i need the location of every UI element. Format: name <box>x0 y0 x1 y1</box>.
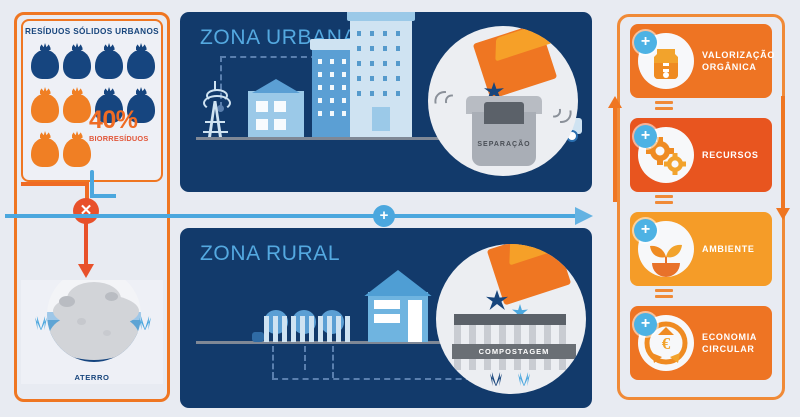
equals-icon <box>655 289 673 299</box>
arrow-shaft <box>781 96 785 212</box>
waste-bag-navy <box>63 43 93 83</box>
grass-icon <box>35 316 47 330</box>
bag-body <box>95 50 123 79</box>
bag-body <box>63 94 91 123</box>
zone-urbana-panel: ZONA URBANA <box>180 12 592 192</box>
gears-icon: + <box>638 127 694 183</box>
arrow-line <box>5 214 580 218</box>
bag-body <box>31 94 59 123</box>
dashed-link-vertical <box>304 346 306 370</box>
rubble-speck <box>103 330 111 336</box>
flow-branch-blue <box>90 170 180 210</box>
waste-bag-icon <box>31 131 59 167</box>
waste-bag-icon <box>31 87 59 123</box>
waste-bag-icon <box>63 43 91 79</box>
outcome-label: VALORIZAÇÃOORGÂNICA <box>694 49 781 73</box>
composting-process-circle: COMPOSTAGEM <box>436 244 586 394</box>
waste-bag-orange <box>31 87 61 127</box>
waste-bag-icon <box>95 43 123 79</box>
bag-body <box>31 138 59 167</box>
fence-icon <box>264 316 356 342</box>
rubble-base <box>49 312 139 360</box>
antenna-icon <box>200 81 234 137</box>
outcome-label: AMBIENTE <box>694 243 772 255</box>
bag-body <box>63 50 91 79</box>
compost-bin-icon <box>450 314 578 370</box>
separation-process-circle: SEPARAÇÃO <box>428 26 578 176</box>
percentage-value: 40% <box>89 109 161 133</box>
tower-icon <box>350 12 412 137</box>
house-icon <box>360 270 436 342</box>
waste-bag-icon <box>127 43 155 79</box>
flow-arrow-connector: + <box>5 205 595 227</box>
outcome-card-ambiente[interactable]: + AMBIENTE <box>630 212 772 286</box>
landfill-label: ATERRO <box>21 373 163 382</box>
zone-rural-panel: ZONA RURAL <box>180 228 592 408</box>
arrow-head <box>776 208 790 220</box>
rubble-speck <box>77 318 86 325</box>
urban-solid-waste-card: RESÍDUOS SÓLIDOS URBANOS 40% BIORRESÍDUO… <box>21 19 163 182</box>
dashed-link-horizontal <box>272 378 482 380</box>
plus-icon: + <box>634 313 657 336</box>
waste-bag-icon <box>63 87 91 123</box>
dashed-link-vertical <box>272 346 274 378</box>
bag-body <box>127 50 155 79</box>
landfill-illustration: ATERRO <box>21 280 163 384</box>
plus-icon: + <box>634 31 657 54</box>
connector-horizontal <box>21 182 89 186</box>
bag-body <box>31 50 59 79</box>
outcome-label: ECONOMIACIRCULAR <box>694 331 772 355</box>
arrow-up-icon <box>608 96 622 202</box>
outcome-label: RECURSOS <box>694 149 772 161</box>
outcome-card-recursos[interactable]: + RECURSOS <box>630 118 772 192</box>
separation-label: SEPARAÇÃO <box>472 138 536 151</box>
outcome-card-economia-circular[interactable]: + € ECONOMIACIRCULAR <box>630 306 772 380</box>
percentage-label: BIORRESÍDUOS <box>89 134 161 143</box>
plus-icon: + <box>373 205 395 227</box>
outcome-card-valorizacao-organica[interactable]: + VALORIZAÇÃOORGÂNICA <box>630 24 772 98</box>
biowaste-percentage: 40% BIORRESÍDUOS <box>89 109 161 143</box>
house-icon <box>248 79 304 137</box>
grass-icon <box>490 372 502 386</box>
waste-bag-navy <box>95 43 125 83</box>
rubble-chunk <box>105 292 118 301</box>
infographic-canvas: RESÍDUOS SÓLIDOS URBANOS 40% BIORRESÍDUO… <box>0 0 800 417</box>
waste-bag-navy <box>127 43 157 83</box>
page-title: RESÍDUOS SÓLIDOS URBANOS <box>23 27 161 36</box>
svg-text:€: € <box>662 334 671 353</box>
branch-corner <box>90 194 116 198</box>
arrow-shaft <box>84 222 88 268</box>
equals-icon <box>655 101 673 111</box>
compost-jar-icon: + <box>638 33 694 89</box>
arrow-right-icon <box>575 207 593 225</box>
arrow-down-icon <box>776 96 790 224</box>
bin-slot <box>484 102 524 124</box>
arrow-down-icon <box>83 222 89 280</box>
arrow-head <box>78 264 94 278</box>
plus-icon: + <box>634 219 657 242</box>
waste-bag-navy <box>31 43 61 83</box>
bag-body <box>63 138 91 167</box>
composting-label: COMPOSTAGEM <box>452 344 576 359</box>
equals-icon <box>655 195 673 205</box>
plus-icon: + <box>634 125 657 148</box>
dashed-link-vertical <box>332 346 334 378</box>
waste-bag-orange <box>31 131 61 171</box>
waste-bag-icon <box>31 43 59 79</box>
arrow-shaft <box>613 106 617 202</box>
zone-rural-title: ZONA RURAL <box>200 242 340 266</box>
waste-bag-icon <box>63 131 91 167</box>
grass-icon <box>518 372 530 386</box>
landfill-circle <box>47 280 141 362</box>
rubble-chunk <box>59 296 75 307</box>
sprout-icon: + <box>638 221 694 277</box>
cat-icon <box>252 332 264 342</box>
euro-cycle-icon: + € <box>638 315 694 371</box>
